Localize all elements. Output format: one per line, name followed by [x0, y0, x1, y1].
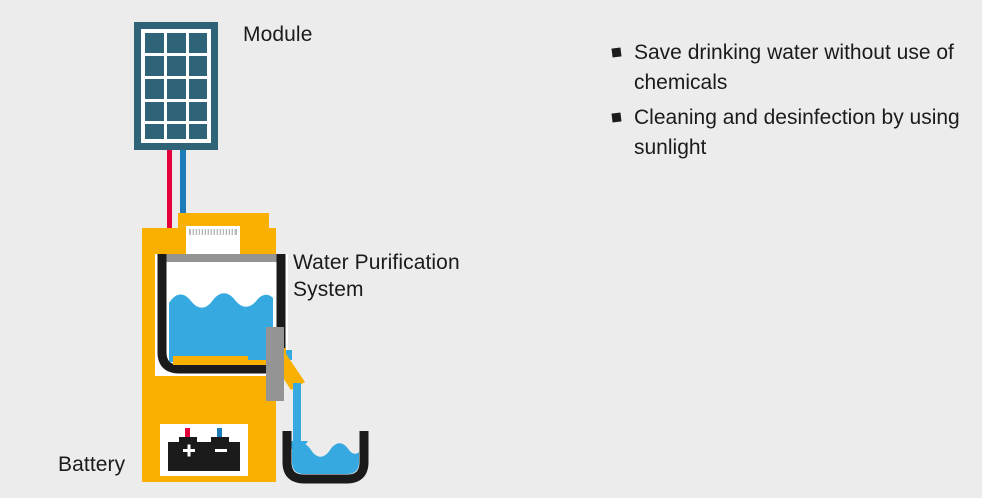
label-water-purification-system: Water Purification System [293, 249, 460, 303]
benefits-list: Save drinking water without use of chemi… [612, 38, 962, 168]
uv-lamp-stripes-top [189, 229, 237, 235]
valve-lever[interactable] [266, 327, 284, 401]
battery-body [168, 442, 240, 471]
cup-water [292, 443, 359, 474]
label-battery: Battery [58, 451, 125, 478]
list-item-label: Save drinking water without use of chemi… [634, 38, 962, 98]
diagram-canvas: Module Water Purification System Battery… [0, 0, 982, 498]
tank-lid-bar [161, 254, 283, 262]
minus-icon [215, 449, 227, 452]
list-item-label: Cleaning and desinfection by using sunli… [634, 103, 962, 163]
water-stream-line [293, 383, 301, 448]
list-item: Save drinking water without use of chemi… [612, 38, 962, 98]
solar-module[interactable] [134, 22, 218, 150]
square-bullet-icon [611, 112, 621, 122]
list-item: Cleaning and desinfection by using sunli… [612, 103, 962, 163]
square-bullet-icon [611, 47, 621, 57]
label-module: Module [243, 21, 312, 48]
battery-compartment[interactable] [160, 424, 248, 476]
